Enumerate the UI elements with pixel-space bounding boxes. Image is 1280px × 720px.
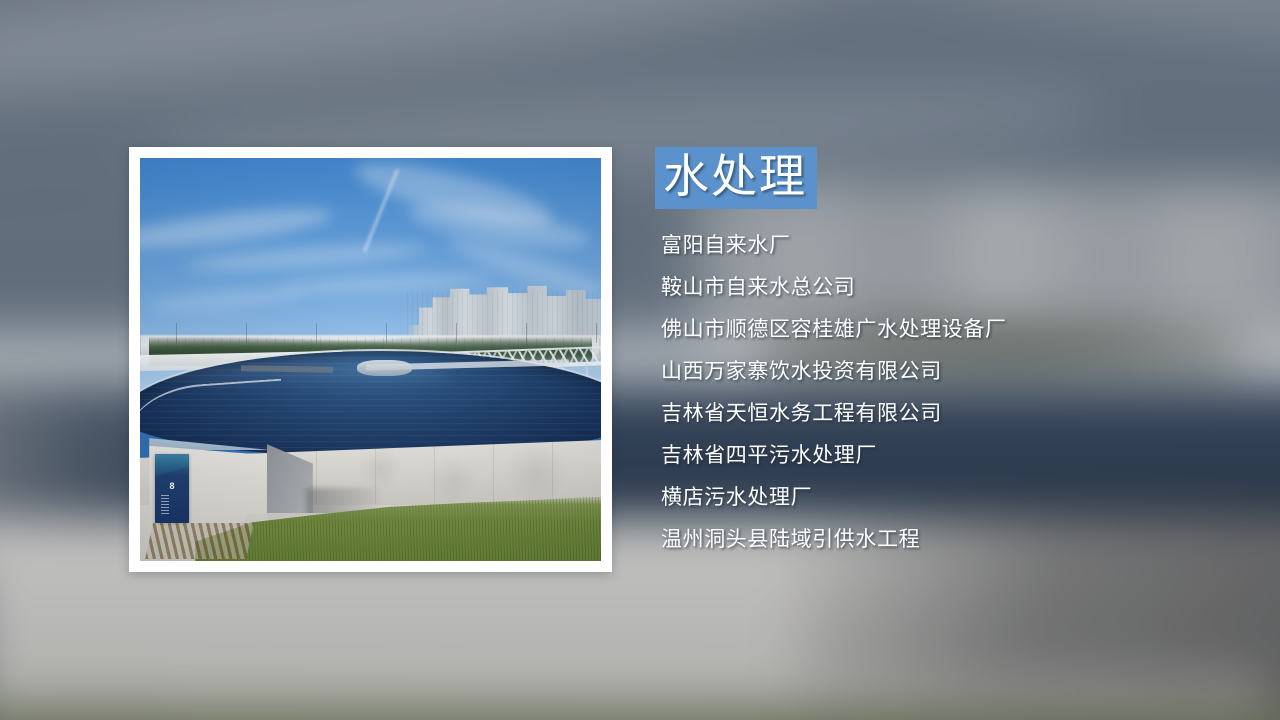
photo-tank-left-arm [241, 365, 333, 373]
photo-sign-header [155, 454, 190, 476]
list-item: 佛山市顺德区容桂雄广水处理设备厂 [661, 319, 1255, 340]
customer-list: 富阳自来水厂 鞍山市自来水总公司 佛山市顺德区容桂雄广水处理设备厂 山西万家寨饮… [661, 235, 1255, 550]
list-item: 吉林省天恒水务工程有限公司 [661, 403, 1255, 424]
list-item: 温州洞头县陆域引供水工程 [661, 529, 1255, 550]
photo-drain-grate [145, 523, 254, 559]
photo-sign-number: 8 [170, 482, 175, 491]
title-highlight-box: 水处理 [655, 147, 817, 209]
photo-blue-sign: 8 [155, 454, 190, 523]
list-item: 横店污水处理厂 [661, 487, 1255, 508]
list-item: 吉林省四平污水处理厂 [661, 445, 1255, 466]
page-title: 水处理 [663, 149, 807, 203]
list-item: 山西万家寨饮水投资有限公司 [661, 361, 1255, 382]
photo-sign-text-lines [161, 495, 169, 516]
photo-image: 8 [140, 158, 601, 561]
content-panel: 水处理 富阳自来水厂 鞍山市自来水总公司 佛山市顺德区容桂雄广水处理设备厂 山西… [655, 147, 1255, 571]
photo-frame: 8 [129, 147, 612, 572]
photo-tank-center-platform [357, 360, 412, 376]
list-item: 富阳自来水厂 [661, 235, 1255, 256]
slide-root: 8 水处理 富阳自来水厂 鞍山市自来水总公司 佛山市顺德区容桂雄广水处理设备厂 … [0, 0, 1280, 720]
list-item: 鞍山市自来水总公司 [661, 277, 1255, 298]
